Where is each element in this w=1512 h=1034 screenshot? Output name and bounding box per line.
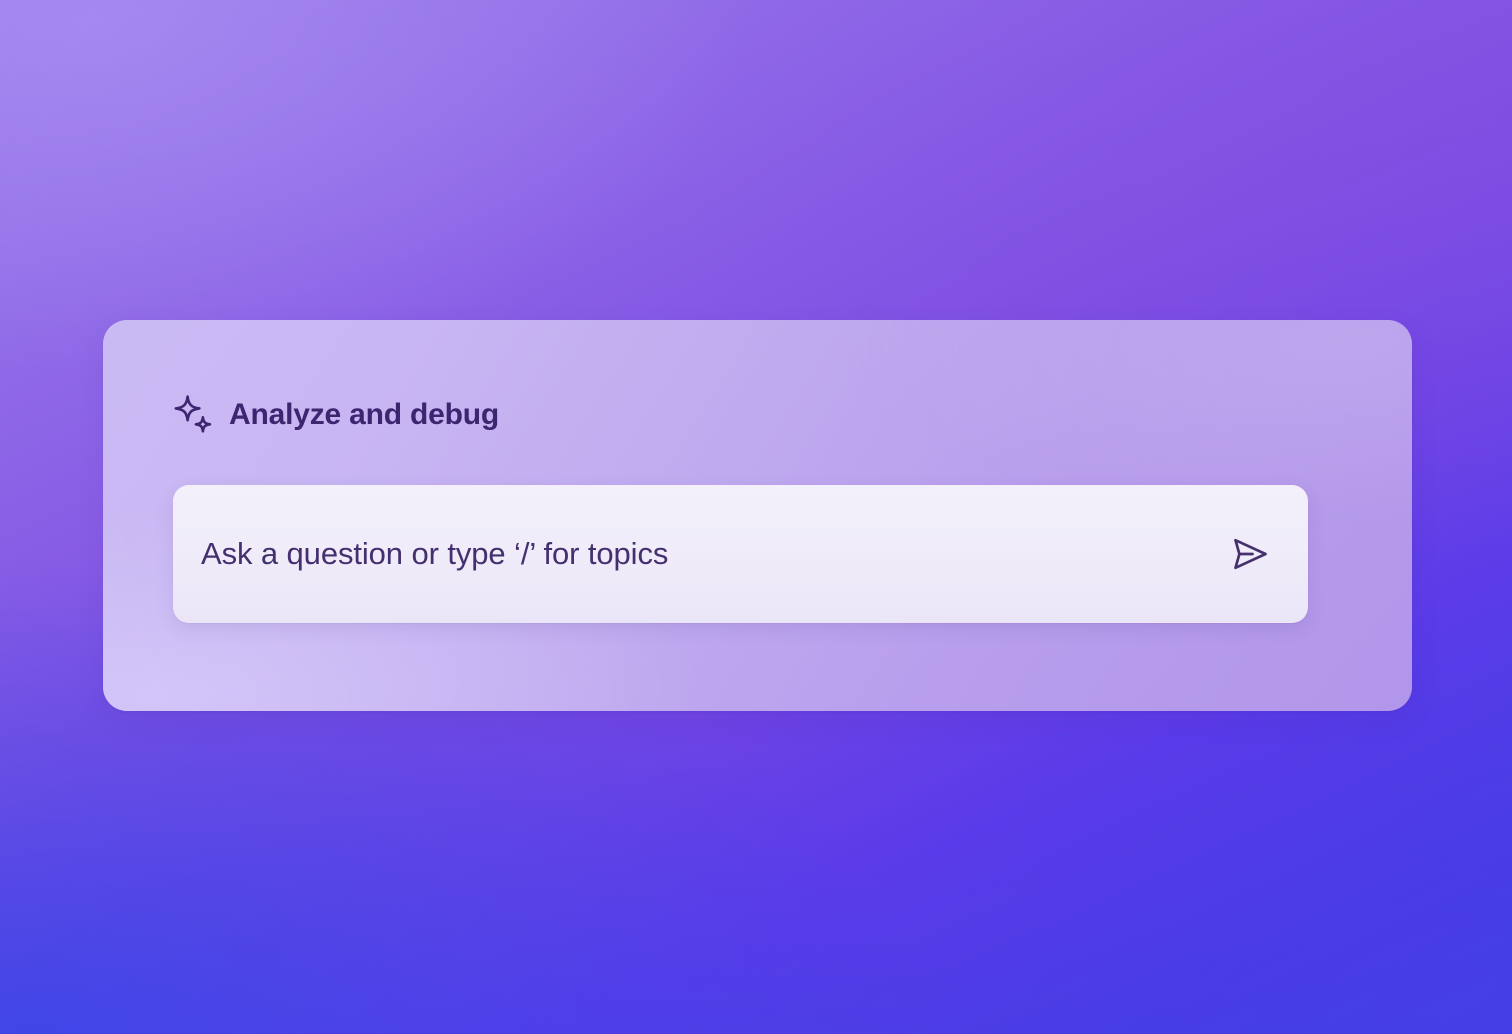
send-button[interactable]	[1222, 526, 1278, 582]
card-header: Analyze and debug	[173, 393, 499, 437]
ask-input-container[interactable]	[173, 485, 1308, 623]
analyze-and-debug-card: Analyze and debug	[103, 320, 1412, 711]
sparkles-icon	[173, 394, 215, 436]
search-input[interactable]	[201, 485, 1222, 623]
page-title: Analyze and debug	[229, 400, 499, 430]
send-icon	[1228, 532, 1272, 576]
